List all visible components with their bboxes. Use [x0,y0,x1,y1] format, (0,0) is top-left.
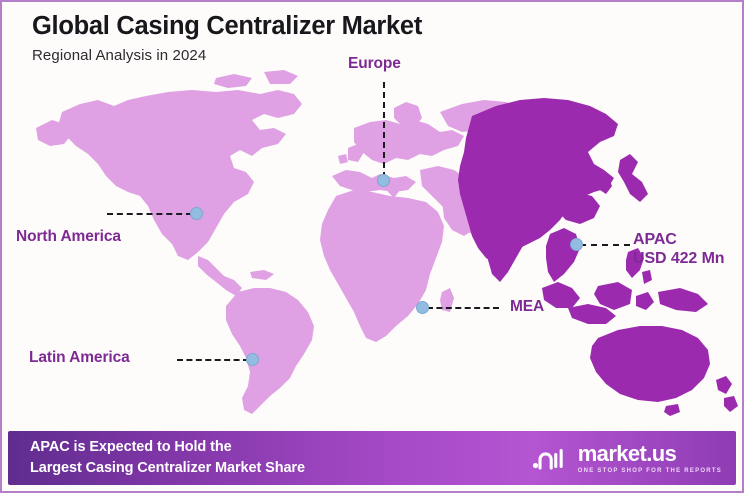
market-us-logo-icon [530,445,570,472]
infographic-root: Global Casing Centralizer Market Regiona… [0,0,744,493]
callout-label-europe: Europe [348,55,401,73]
brand-text: market.us ONE STOP SHOP FOR THE REPORTS [578,443,722,474]
footer-headline-line1: APAC is Expected to Hold the [30,437,305,458]
footer-headline-line2: Largest Casing Centralizer Market Share [30,458,305,479]
callout-label-latin-america: Latin America [29,349,130,367]
callout-apac-value: USD 422 Mn [633,250,724,269]
map-marker-mea [416,301,429,314]
world-map [2,20,744,430]
brand-name: market.us [578,443,677,465]
leader-line-apac [580,244,630,246]
leader-line-north-america [107,213,192,215]
callout-latin-america-text: Latin America [29,349,130,366]
leader-line-latin-america [177,359,249,361]
map-marker-latin-america [246,353,259,366]
callout-label-mea: MEA [510,298,544,316]
callout-mea-text: MEA [510,298,544,315]
callout-north-america-text: North America [16,228,121,245]
callout-apac-text: APAC [633,231,724,250]
leader-line-mea [427,307,499,309]
brand-tagline: ONE STOP SHOP FOR THE REPORTS [578,468,722,474]
leader-line-europe [383,82,385,178]
map-marker-europe [377,174,390,187]
callout-label-apac: APAC USD 422 Mn [633,231,724,269]
map-marker-apac [570,238,583,251]
page-title: Global Casing Centralizer Market [32,12,422,41]
callout-europe-text: Europe [348,55,401,72]
brand-logo[interactable]: market.us ONE STOP SHOP FOR THE REPORTS [530,443,722,474]
callout-label-north-america: North America [16,228,121,246]
footer-banner: APAC is Expected to Hold the Largest Cas… [8,431,736,485]
footer-headline: APAC is Expected to Hold the Largest Cas… [30,437,305,478]
map-marker-north-america [190,207,203,220]
